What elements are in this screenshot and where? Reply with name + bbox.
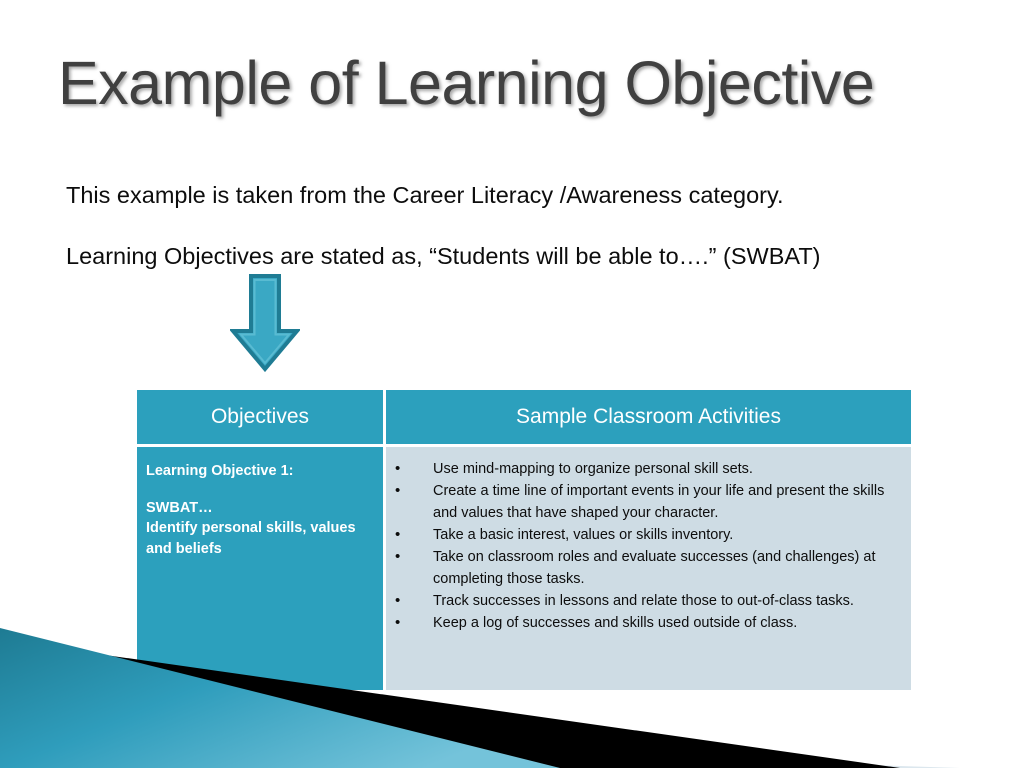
objective-label: Learning Objective 1: [146, 461, 371, 482]
intro-text-line-2: Learning Objectives are stated as, “Stud… [66, 243, 821, 270]
objectives-table: Objectives Sample Classroom Activities L… [137, 390, 911, 690]
list-item: Track successes in lessons and relate th… [386, 591, 901, 612]
objective-swbat: SWBAT… [146, 498, 371, 519]
slide-canvas: Example of Learning Objective This examp… [0, 0, 1024, 768]
objective-cell: Learning Objective 1: SWBAT… Identify pe… [137, 447, 383, 690]
objective-statement: Identify personal skills, values and bel… [146, 518, 371, 559]
down-arrow-icon [230, 274, 300, 372]
activities-cell: Use mind-mapping to organize personal sk… [386, 447, 911, 690]
table-header-activities: Sample Classroom Activities [386, 390, 911, 444]
activity-list: Use mind-mapping to organize personal sk… [386, 459, 901, 635]
table-row: Learning Objective 1: SWBAT… Identify pe… [137, 447, 911, 690]
list-item: Take on classroom roles and evaluate suc… [386, 547, 901, 590]
list-item: Take a basic interest, values or skills … [386, 525, 901, 546]
objective-spacer [146, 482, 371, 498]
list-item: Create a time line of important events i… [386, 481, 901, 524]
intro-text-line-1: This example is taken from the Career Li… [66, 182, 784, 209]
table-header-objectives: Objectives [137, 390, 383, 444]
table-header-row: Objectives Sample Classroom Activities [137, 390, 911, 444]
list-item: Keep a log of successes and skills used … [386, 613, 901, 634]
list-item: Use mind-mapping to organize personal sk… [386, 459, 901, 480]
page-title: Example of Learning Objective [58, 48, 978, 118]
